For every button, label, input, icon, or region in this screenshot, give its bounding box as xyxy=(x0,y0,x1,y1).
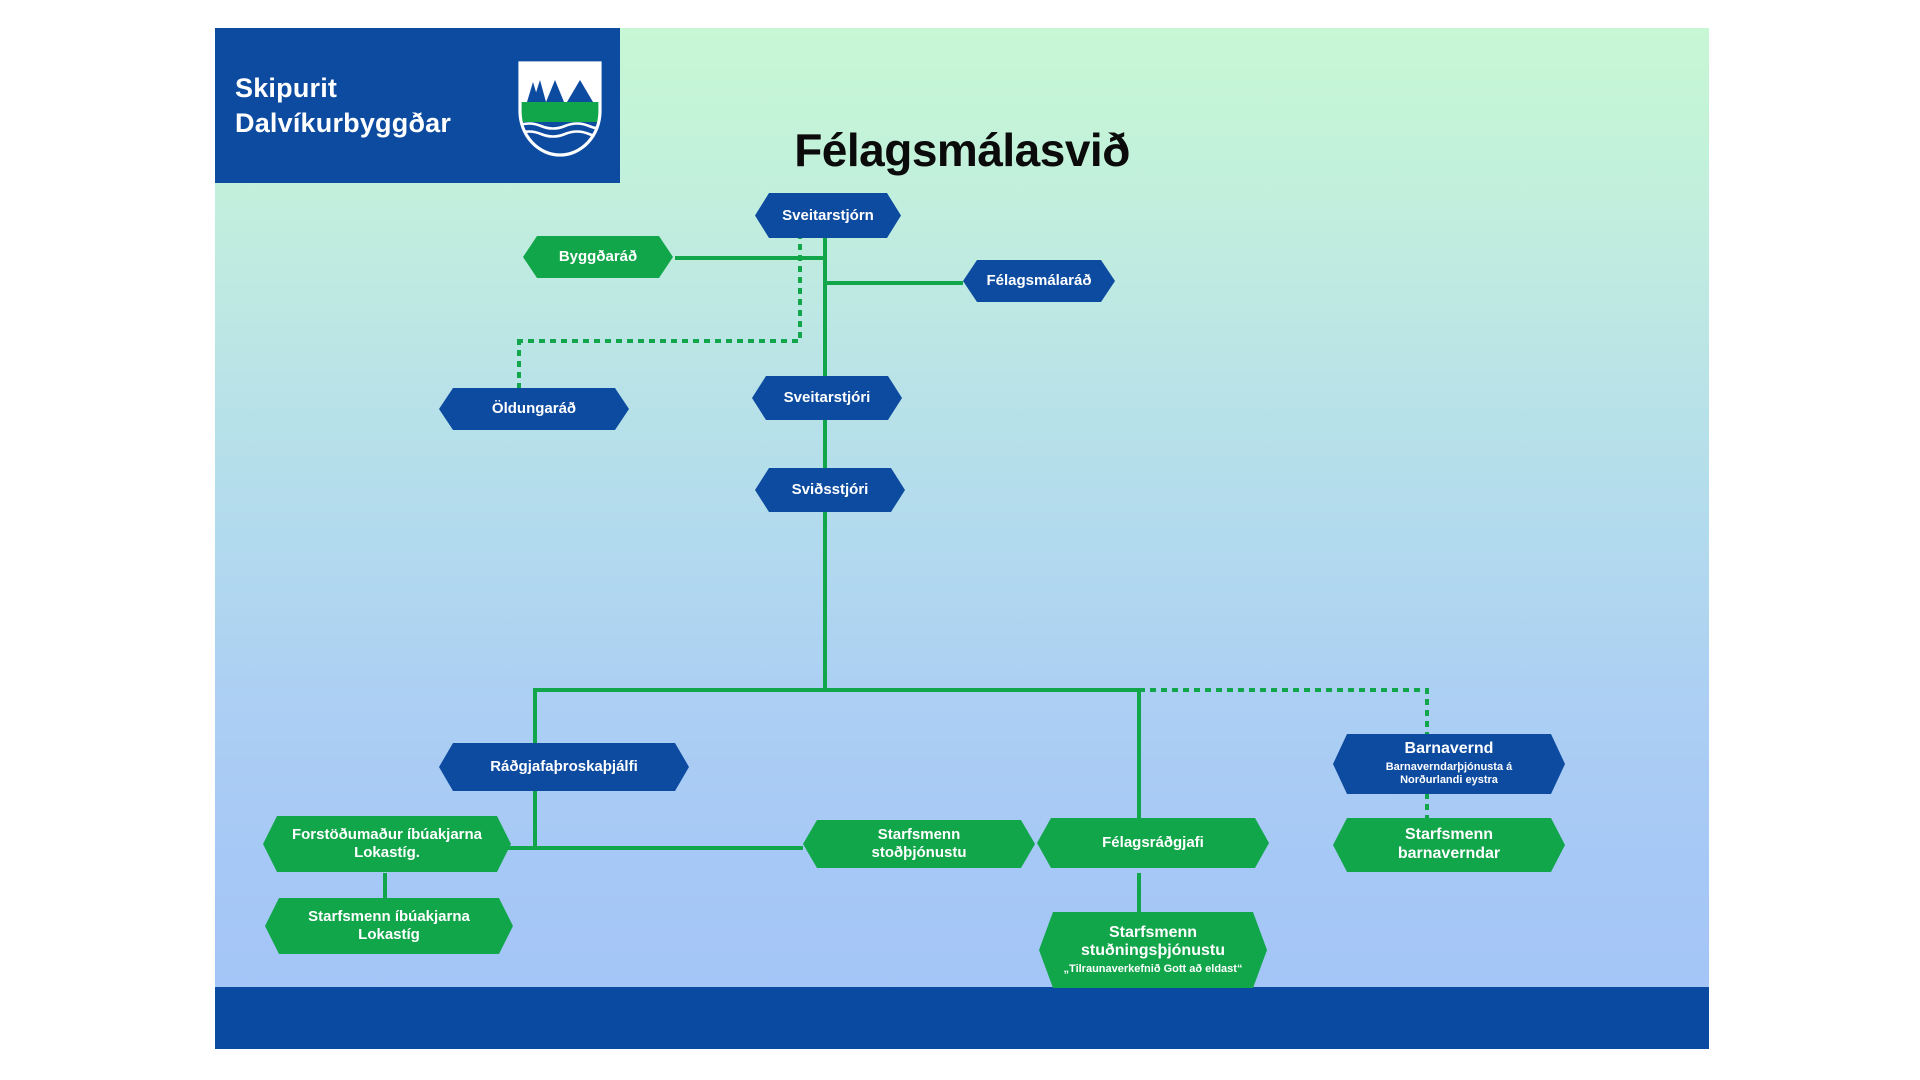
node-byggdarad-label: Byggðaráð xyxy=(559,248,637,266)
edge-bus-to-barnavernd-vertical xyxy=(1425,688,1429,740)
edge-bus-to-felagsradgjafi xyxy=(1137,688,1141,818)
node-starfsmenn-ibuakjarna[interactable]: Starfsmenn íbúakjarna Lokastíg xyxy=(265,898,513,954)
node-byggdarad[interactable]: Byggðaráð xyxy=(523,236,673,278)
edge-byggdarad xyxy=(675,256,825,260)
node-svidsstjori-label: Sviðsstjóri xyxy=(792,481,869,499)
node-sveitarstjorn-label: Sveitarstjórn xyxy=(782,207,874,225)
node-oldungarad[interactable]: Öldungaráð xyxy=(439,388,629,430)
node-starfsmenn-barnaverndar[interactable]: Starfsmenn barnaverndar xyxy=(1333,818,1565,872)
edge-trunk-to-sveitarstjori xyxy=(823,281,827,383)
node-starfsmenn-ibuakjarna-label: Starfsmenn íbúakjarna Lokastíg xyxy=(291,908,487,943)
node-starfsmenn-stodthjonustu-label: Starfsmenn stoðþjónustu xyxy=(829,826,1009,861)
node-sveitarstjori[interactable]: Sveitarstjóri xyxy=(752,376,902,420)
node-starfsmenn-barnaverndar-label: Starfsmenn barnaverndar xyxy=(1359,826,1539,864)
screenshot-root: Skipurit Dalvíkurbyggðar xyxy=(0,0,1920,1080)
node-forstodumadur-label: Forstöðumaður íbúakjarna Lokastíg. xyxy=(289,826,485,861)
node-felagsmalarad-label: Félagsmálaráð xyxy=(986,272,1091,290)
edge-oldungarad-vertical-down xyxy=(517,339,521,389)
edge-svidsstjori-down xyxy=(823,510,827,690)
node-barnavernd[interactable]: Barnavernd Barnaverndarþjónusta á Norður… xyxy=(1333,734,1565,794)
edge-oldungarad-vertical-up xyxy=(798,233,802,343)
node-starfsmenn-studningsthjonustu[interactable]: Starfsmenn stuðningsþjónustu „Tilraunave… xyxy=(1039,912,1267,988)
node-radgjafathroskathjalfi[interactable]: Ráðgjafaþroskaþjálfi xyxy=(439,743,689,791)
org-chart-poster: Skipurit Dalvíkurbyggðar xyxy=(215,28,1709,1049)
node-barnavernd-sublabel: Barnaverndarþjónusta á Norðurlandi eystr… xyxy=(1355,761,1543,787)
node-felagsradgjafi-label: Félagsráðgjafi xyxy=(1102,834,1204,852)
edge-felagsmalarad xyxy=(823,281,963,285)
node-oldungarad-label: Öldungaráð xyxy=(492,400,576,418)
edge-bus-to-radgjafathroskathjalfi xyxy=(533,688,537,746)
footer-bar xyxy=(215,987,1709,1049)
node-sveitarstjori-label: Sveitarstjóri xyxy=(784,389,871,407)
edge-felagsradgjafi-starfsmenn-studn xyxy=(1137,873,1141,915)
node-forstodumadur[interactable]: Forstöðumaður íbúakjarna Lokastíg. xyxy=(263,816,511,872)
node-starfsmenn-studningsthjonustu-label: Starfsmenn stuðningsþjónustu xyxy=(1059,924,1247,962)
node-felagsmalarad[interactable]: Félagsmálaráð xyxy=(963,260,1115,302)
node-starfsmenn-stodthjonustu[interactable]: Starfsmenn stoðþjónustu xyxy=(803,820,1035,868)
edge-main-bus xyxy=(533,688,1141,692)
node-starfsmenn-studningsthjonustu-sublabel: „Tilraunaverkefnið Gott að eldast“ xyxy=(1064,963,1243,976)
logo-title-line1: Skipurit xyxy=(235,71,485,106)
edge-radgjafathroskathjalfi-down xyxy=(533,790,537,850)
page-title: Félagsmálasvið xyxy=(215,123,1709,177)
node-barnavernd-label: Barnavernd xyxy=(1405,740,1494,759)
node-sveitarstjorn[interactable]: Sveitarstjórn xyxy=(755,193,901,238)
node-radgjafathroskathjalfi-label: Ráðgjafaþroskaþjálfi xyxy=(490,758,638,776)
node-felagsradgjafi[interactable]: Félagsráðgjafi xyxy=(1037,818,1269,868)
edge-bus-to-barnavernd-horizontal xyxy=(1139,688,1429,692)
edge-oldungarad-horizontal xyxy=(517,339,802,343)
node-svidsstjori[interactable]: Sviðsstjóri xyxy=(755,468,905,512)
